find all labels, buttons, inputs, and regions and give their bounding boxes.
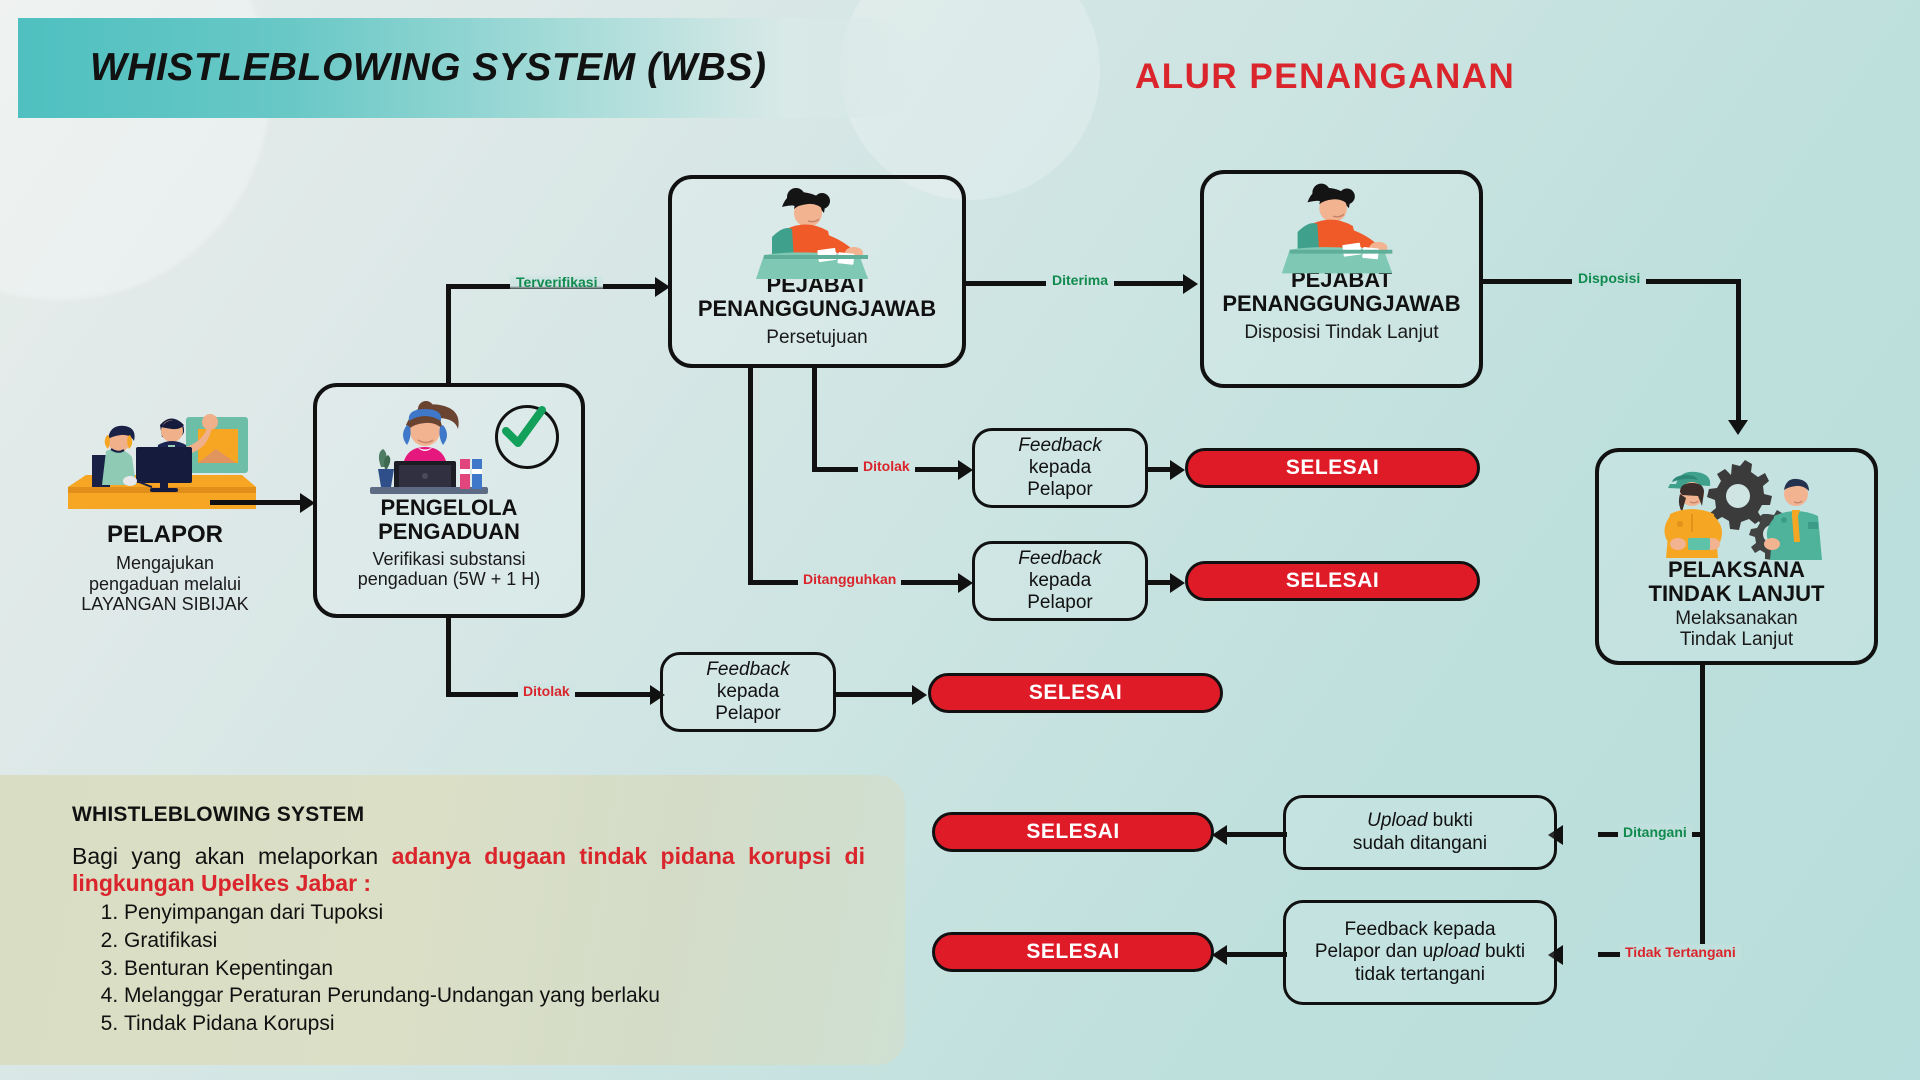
edge-label-ditolak-bawah: Ditolak — [518, 683, 575, 699]
fb-ditolak-atas-line2: kepada — [1018, 457, 1101, 479]
list-item: Penyimpangan dari Tupoksi — [124, 899, 865, 927]
arrowhead-fb-atas-to-selesai — [1170, 460, 1185, 480]
fb-ditangguhkan-line3: Pelapor — [1018, 592, 1101, 614]
pelapor-sub-line1: Mengajukan — [40, 553, 290, 574]
info-panel-paragraph: Bagi yang akan melaporkan adanya dugaan … — [72, 843, 865, 897]
edge-fb-bawah-to-selesai — [836, 692, 918, 697]
fb-upload-em: Upload — [1367, 810, 1427, 831]
pejabat-persetujuan-subtitle: Persetujuan — [766, 327, 867, 348]
pelaksana-title: PELAKSANA TINDAK LANJUT — [1649, 558, 1825, 606]
feedback-box-ditolak-bawah: Feedback kepada Pelapor — [660, 652, 836, 732]
info-panel-list: Penyimpangan dari Tupoksi Gratifikasi Be… — [72, 899, 865, 1038]
fb-tt-line1: Feedback kepada — [1315, 919, 1525, 941]
end-pill-2: SELESAI — [1185, 561, 1480, 601]
arrowhead-fb-ditangguhkan-to-selesai — [1170, 573, 1185, 593]
list-item: Gratifikasi — [124, 927, 865, 955]
end-pill-1: SELESAI — [1185, 448, 1480, 488]
edge-fb-tt-to-selesai — [1225, 952, 1287, 957]
info-panel-heading: WHISTLEBLOWING SYSTEM — [72, 803, 865, 827]
node-pejabat-disposisi: PEJABAT PENANGGUNGJAWAB Disposisi Tindak… — [1200, 170, 1483, 388]
fb-tt-line3: tidak tertangani — [1315, 964, 1525, 986]
flow-title: ALUR PENANGANAN — [1135, 57, 1515, 97]
green-check-icon — [495, 405, 559, 469]
arrowhead-diterima — [1183, 274, 1198, 294]
arrowhead-terverifikasi — [655, 277, 670, 297]
edge-pelapor-to-pengelola — [210, 500, 302, 505]
feedback-box-ditolak-atas: Feedback kepada Pelapor — [972, 428, 1148, 508]
info-panel: WHISTLEBLOWING SYSTEM Bagi yang akan mel… — [0, 775, 905, 1065]
fb-ditolak-bawah-line1: Feedback — [706, 659, 789, 681]
edge-fb-upload-to-selesai — [1225, 832, 1287, 837]
fb-tt-line2-em: pload — [1433, 941, 1480, 962]
pejabat-disposisi-title-line2: PENANGGUNGJAWAB — [1222, 292, 1460, 316]
call-center-illustration — [40, 395, 290, 510]
officer-desk-illustration — [742, 187, 892, 279]
pelapor-title: PELAPOR — [40, 521, 290, 549]
workers-gear-illustration — [1632, 458, 1842, 562]
fb-ditolak-bawah-line3: Pelapor — [706, 703, 789, 725]
pejabat-persetujuan-title: PEJABAT PENANGGUNGJAWAB — [698, 273, 936, 321]
end-pill-5: SELESAI — [932, 932, 1214, 972]
page-title: WHISTLEBLOWING SYSTEM (WBS) — [90, 46, 766, 90]
arrowhead-ditangguhkan — [958, 573, 973, 593]
edge-label-ditolak-atas: Ditolak — [858, 458, 915, 474]
fb-ditolak-bawah-line2: kepada — [706, 681, 789, 703]
pelaksana-sub-line1: Melaksanakan — [1675, 608, 1798, 629]
pengelola-sub-line2: pengaduan (5W + 1 H) — [358, 569, 541, 589]
pejabat-disposisi-subtitle: Disposisi Tindak Lanjut — [1244, 322, 1438, 343]
edge-pengelola-up — [446, 284, 451, 385]
fb-tt-line2-a: Pelapor dan u — [1315, 941, 1433, 962]
arrowhead-fb-bawah-to-selesai — [912, 685, 927, 705]
title-banner: WHISTLEBLOWING SYSTEM (WBS) — [18, 18, 918, 118]
edge-ditolak-atas-v — [812, 368, 817, 470]
fb-ditolak-atas-line1: Feedback — [1018, 435, 1101, 457]
pengelola-subtitle: Verifikasi substansi pengaduan (5W + 1 H… — [358, 549, 541, 589]
info-para-normal: Bagi yang akan melaporkan — [72, 843, 392, 869]
edge-disposisi-v — [1736, 279, 1741, 424]
pelaksana-sub-line2: Tindak Lanjut — [1675, 629, 1798, 650]
edge-label-terverifikasi: Terverifikasi — [510, 274, 603, 290]
feedback-box-upload-ditangani: Upload bukti sudah ditangani — [1283, 795, 1557, 870]
edge-ditangguhkan-v — [748, 368, 753, 583]
fb-ditangguhkan-line2: kepada — [1018, 570, 1101, 592]
end-pill-3: SELESAI — [928, 673, 1223, 713]
edge-label-ditangani: Ditangani — [1618, 824, 1692, 840]
edge-label-tidak-tertangani: Tidak Tertangani — [1620, 944, 1741, 960]
pejabat-persetujuan-title-line2: PENANGGUNGJAWAB — [698, 297, 936, 321]
arrowhead-ditolak-atas — [958, 460, 973, 480]
end-pill-4: SELESAI — [932, 812, 1214, 852]
pelapor-subtitle: Mengajukan pengaduan melalui LAYANGAN SI… — [40, 553, 290, 615]
arrowhead-fb-tt-to-selesai — [1212, 945, 1227, 965]
edge-ditolak-bawah-v — [446, 616, 451, 696]
arrowhead-fb-upload-to-selesai — [1212, 825, 1227, 845]
pengelola-title: PENGELOLA PENGADUAN — [378, 496, 520, 544]
edge-label-ditangguhkan: Ditangguhkan — [798, 571, 901, 587]
fb-upload-line2: sudah ditangani — [1353, 833, 1487, 855]
pengelola-sub-line1: Verifikasi substansi — [358, 549, 541, 569]
fb-tt-line2: Pelapor dan upload bukti — [1315, 941, 1525, 963]
node-pengelola-pengaduan: PENGELOLA PENGADUAN Verifikasi substansi… — [313, 383, 585, 618]
pelaksana-subtitle: Melaksanakan Tindak Lanjut — [1675, 608, 1798, 651]
edge-tidak-tertangani-v — [1700, 832, 1705, 952]
list-item: Melanggar Peraturan Perundang-Undangan y… — [124, 982, 865, 1010]
edge-pelaksana-down-v — [1700, 663, 1705, 836]
pelapor-sub-line3: LAYANGAN SIBIJAK — [40, 594, 290, 615]
fb-tt-line2-b: bukti — [1480, 941, 1525, 962]
fb-upload-line1: Upload bukti — [1353, 810, 1487, 832]
feedback-box-tidak-tertangani: Feedback kepada Pelapor dan upload bukti… — [1283, 900, 1557, 1005]
pelaksana-title-line2: TINDAK LANJUT — [1649, 582, 1825, 606]
feedback-box-ditangguhkan: Feedback kepada Pelapor — [972, 541, 1148, 621]
list-item: Benturan Kepentingan — [124, 955, 865, 983]
pelapor-sub-line2: pengaduan melalui — [40, 574, 290, 595]
node-pelaksana-tindak-lanjut: PELAKSANA TINDAK LANJUT Melaksanakan Tin… — [1595, 448, 1878, 665]
pejabat-disposisi-title: PEJABAT PENANGGUNGJAWAB — [1222, 268, 1460, 316]
edge-label-diterima: Diterima — [1046, 272, 1114, 288]
edge-label-disposisi: Disposisi — [1572, 270, 1646, 286]
fb-ditolak-atas-line3: Pelapor — [1018, 479, 1101, 501]
fb-ditangguhkan-line1: Feedback — [1018, 548, 1101, 570]
fb-upload-rest: bukti — [1427, 810, 1472, 831]
node-pejabat-persetujuan: PEJABAT PENANGGUNGJAWAB Persetujuan — [668, 175, 966, 368]
list-item: Tindak Pidana Korupsi — [124, 1010, 865, 1038]
officer-desk-illustration — [1268, 182, 1416, 274]
pengelola-title-line2: PENGADUAN — [378, 520, 520, 544]
arrowhead-disposisi — [1728, 420, 1748, 435]
